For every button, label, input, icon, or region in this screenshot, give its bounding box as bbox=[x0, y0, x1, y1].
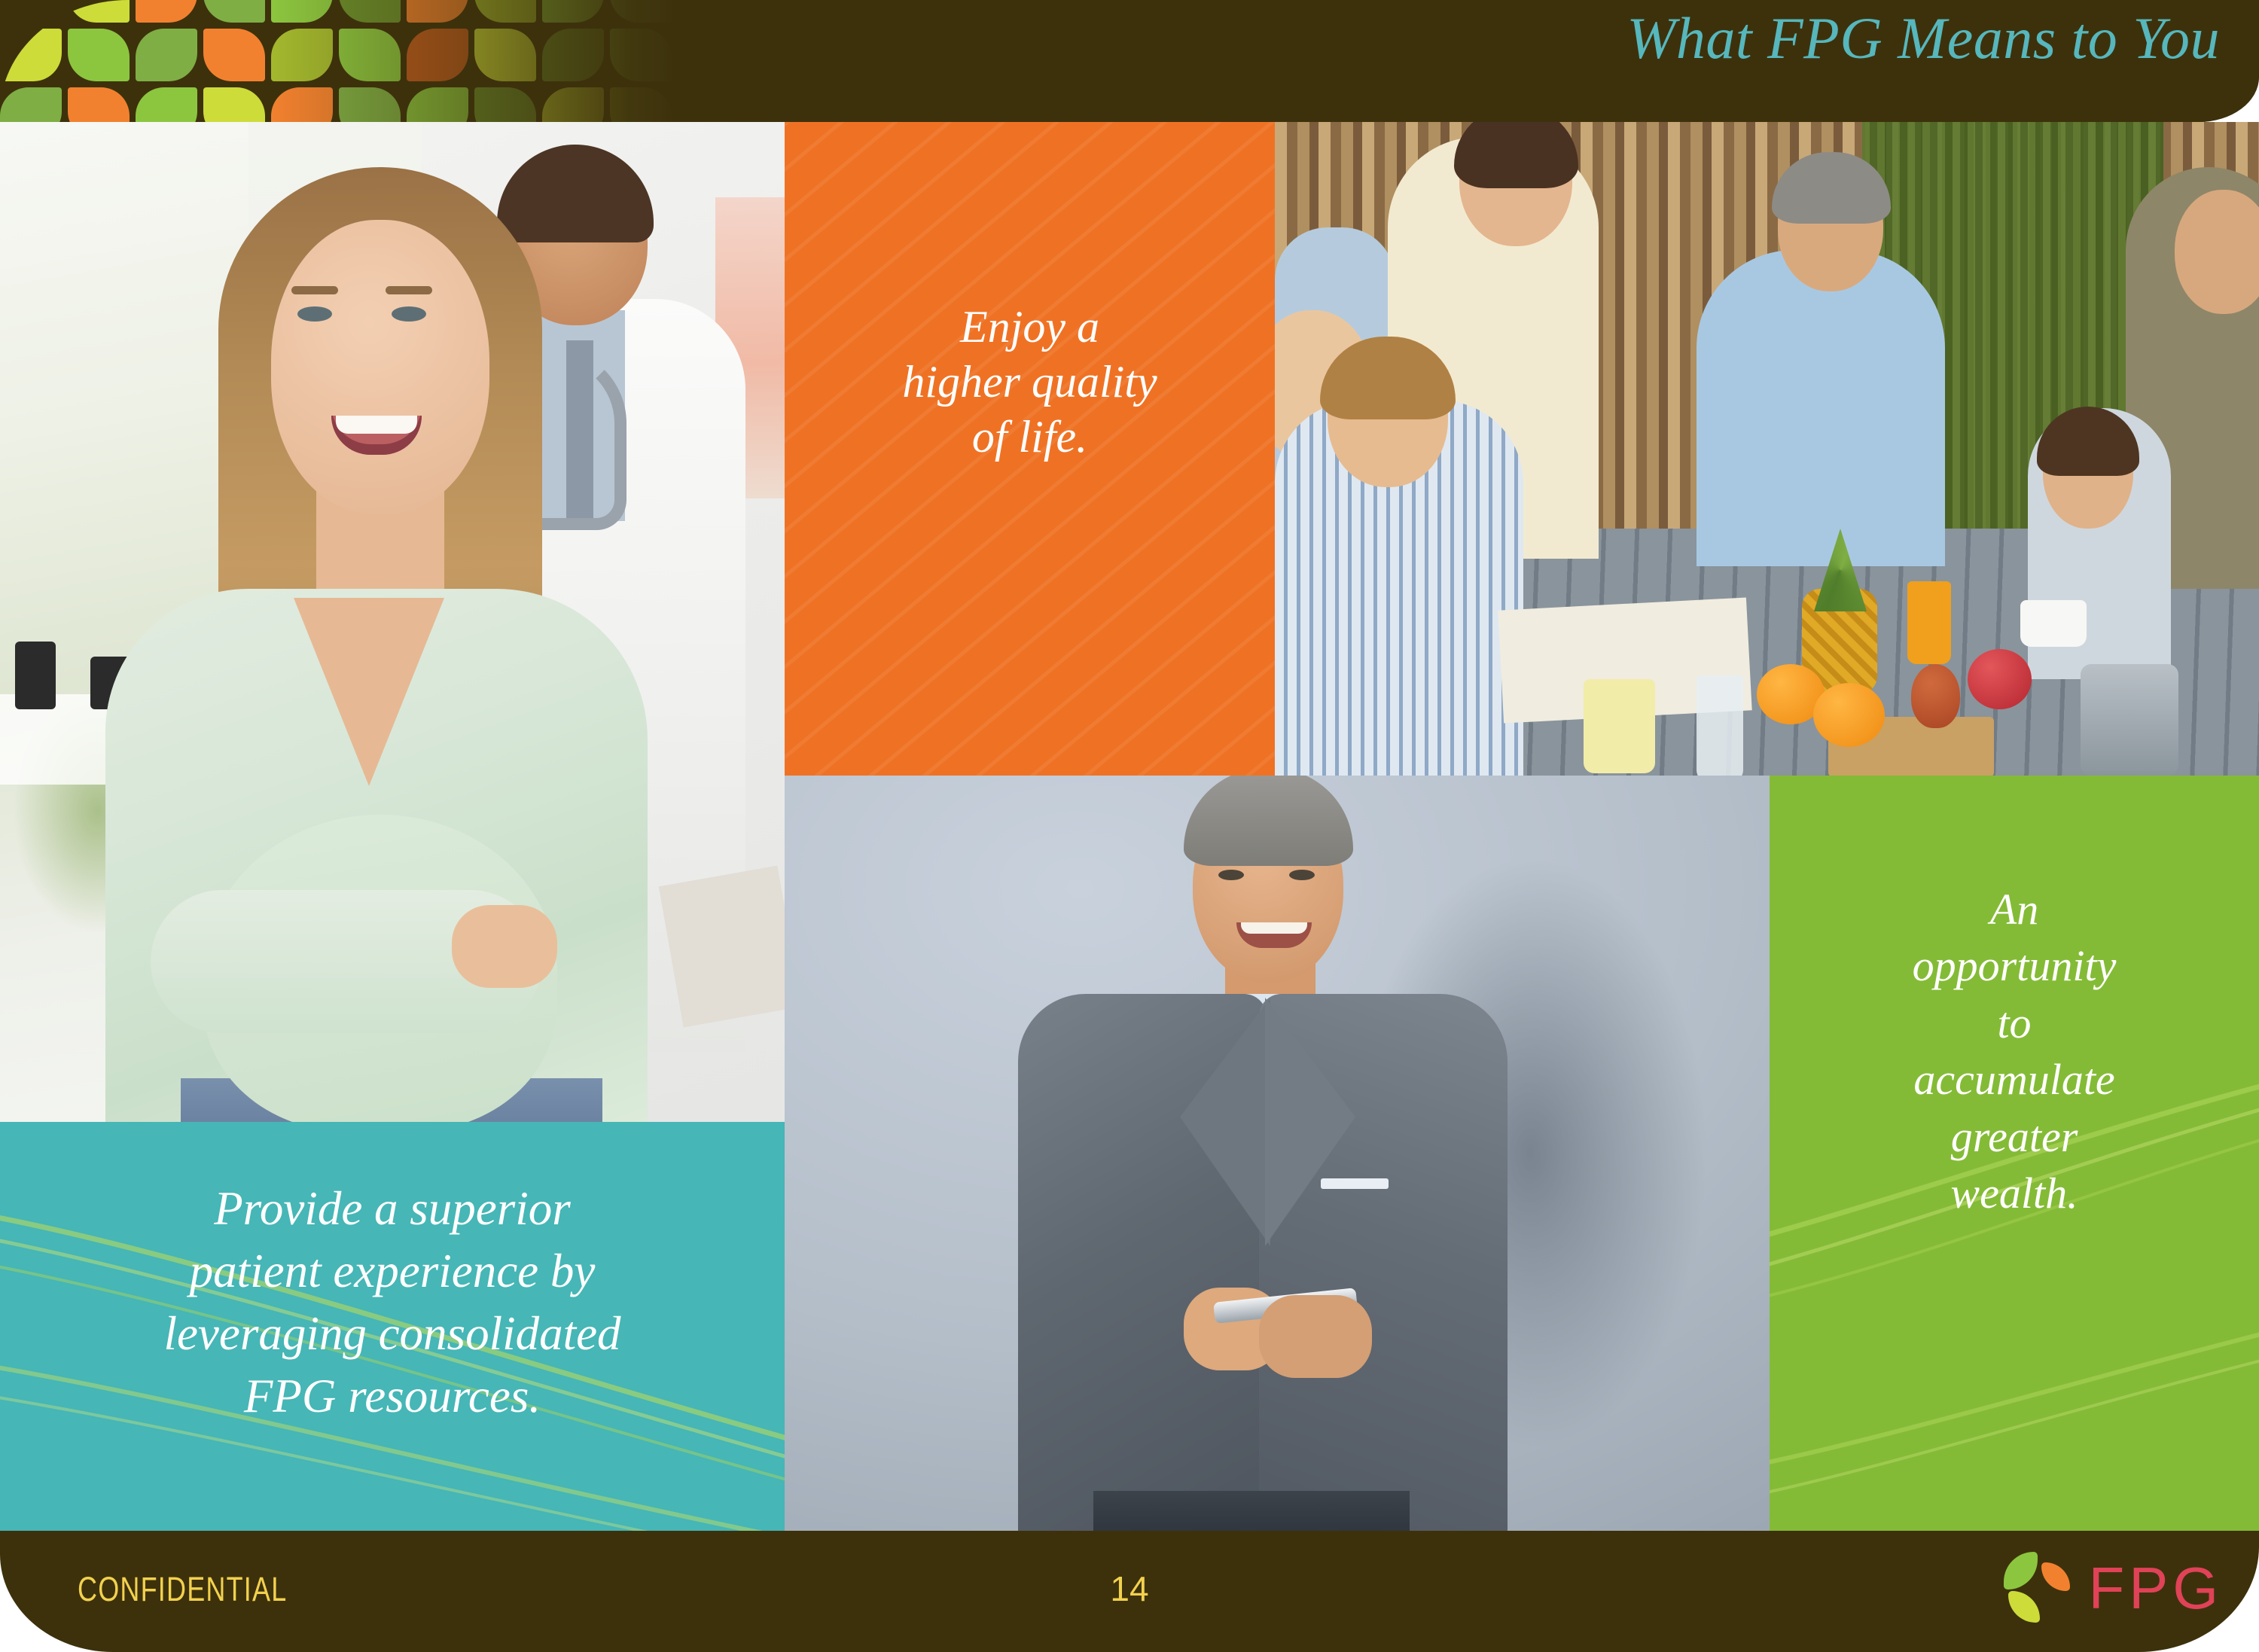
quote-text-teal: Provide a superior patient experience by… bbox=[0, 1178, 785, 1428]
businessman-figure bbox=[995, 776, 1523, 1531]
pocket-square bbox=[1321, 1178, 1389, 1189]
family-member-man bbox=[1697, 250, 1945, 566]
orange-fruit bbox=[1813, 683, 1885, 747]
businessman-hair bbox=[1184, 776, 1353, 866]
woman-teeth bbox=[336, 416, 417, 434]
businessman-trousers bbox=[1093, 1491, 1410, 1531]
woman-eyebrow bbox=[291, 286, 338, 294]
yellow-mug bbox=[1584, 679, 1655, 773]
family-member-hair bbox=[1454, 122, 1578, 188]
quote-line: patient experience by bbox=[30, 1240, 755, 1303]
leaf-pattern-icon bbox=[0, 0, 678, 122]
quote-line: of life. bbox=[810, 410, 1249, 465]
woman-hand bbox=[452, 905, 557, 988]
businessman-eye bbox=[1289, 870, 1315, 880]
family-outdoor-meal-photo bbox=[1275, 122, 2259, 776]
businessman-hand bbox=[1259, 1295, 1372, 1378]
businessman-with-phone-photo bbox=[785, 776, 1770, 1531]
woman-eye bbox=[297, 306, 332, 322]
quote-block-orange: Enjoy a higher quality of life. bbox=[785, 122, 1275, 776]
slide: What FPG Means to You bbox=[0, 0, 2259, 1652]
fpg-logo: FPG bbox=[2004, 1552, 2223, 1623]
woman-eye bbox=[392, 306, 426, 322]
quote-line: Enjoy a bbox=[810, 300, 1249, 355]
pear-fruit bbox=[1911, 664, 1960, 728]
page-title: What FPG Means to You bbox=[1626, 5, 2220, 72]
pregnant-woman-figure bbox=[90, 167, 663, 1122]
slide-footer: CONFIDENTIAL 14 FPG bbox=[0, 1531, 2259, 1652]
woman-eyebrow bbox=[386, 286, 432, 294]
page-number: 14 bbox=[0, 1568, 2259, 1609]
quote-block-green: An opportunity to accumulate greater wea… bbox=[1770, 776, 2259, 1531]
clinic-bottle bbox=[15, 642, 56, 709]
orange-juice-glass bbox=[1907, 581, 1951, 664]
fpg-logo-text: FPG bbox=[2089, 1559, 2223, 1617]
leaf-orange-icon bbox=[2041, 1562, 2070, 1591]
quote-line: higher quality bbox=[810, 355, 1249, 410]
quote-block-teal: Provide a superior patient experience by… bbox=[0, 1122, 785, 1531]
apple-fruit bbox=[1968, 649, 2032, 709]
woman-face bbox=[271, 220, 489, 514]
slide-header: What FPG Means to You bbox=[0, 0, 2259, 122]
quote-line: FPG resources. bbox=[30, 1365, 755, 1428]
water-glass bbox=[1697, 675, 1743, 776]
quote-line: wealth. bbox=[1803, 1165, 2226, 1221]
quote-line: opportunity bbox=[1803, 937, 2226, 994]
lantern-icon bbox=[2081, 664, 2178, 776]
leaf-pattern-fade bbox=[0, 0, 678, 122]
businessman-teeth bbox=[1241, 922, 1307, 934]
quote-line: to bbox=[1803, 995, 2226, 1051]
family-member-head bbox=[2175, 190, 2259, 314]
pregnant-woman-with-doctor-photo bbox=[0, 122, 785, 1122]
leaf-green-icon bbox=[2004, 1552, 2038, 1590]
quote-line: accumulate bbox=[1803, 1051, 2226, 1108]
quote-line: An bbox=[1803, 881, 2226, 937]
white-cup bbox=[2020, 600, 2087, 647]
quote-line: leveraging consolidated bbox=[30, 1303, 755, 1365]
quote-line: greater bbox=[1803, 1108, 2226, 1165]
leaf-lime-icon bbox=[2008, 1591, 2040, 1623]
quote-text-orange: Enjoy a higher quality of life. bbox=[785, 300, 1275, 465]
quote-line: Provide a superior bbox=[30, 1178, 755, 1240]
fpg-leaf-mark-icon bbox=[2004, 1552, 2075, 1623]
slide-body: Enjoy a higher quality of life. bbox=[0, 122, 2259, 1531]
businessman-eye bbox=[1218, 870, 1244, 880]
quote-text-green: An opportunity to accumulate greater wea… bbox=[1770, 881, 2259, 1221]
